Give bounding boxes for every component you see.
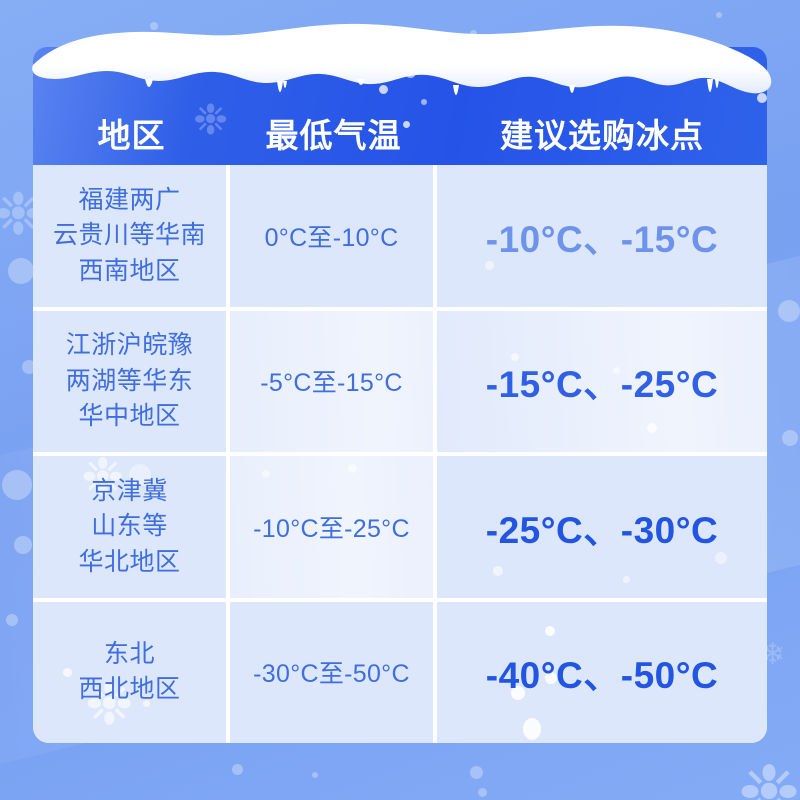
cell-advice: -25°C、-30°C [437, 456, 767, 598]
column-header-advice: 建议选购冰点 [437, 109, 767, 157]
table-row: 福建两广 云贵川等华南 西南地区 0°C至-10°C -10°C、-15°C [33, 165, 767, 307]
region-label: 京津冀 山东等 华北地区 [78, 474, 180, 581]
snow-dot [715, 552, 727, 564]
bokeh-dot [8, 258, 34, 284]
cell-advice: -40°C、-50°C [437, 602, 767, 744]
poster-canvas: ❉ ❉ ❄ ❉ 地区 最低气温 建议选购冰点 [0, 0, 800, 800]
advice-label: -10°C、-15°C [486, 209, 719, 263]
snowflake-icon: ❉ [738, 756, 800, 800]
table-row: ❉ 东北 西北地区 -30°C至-50°C -40°C、-50°C [33, 602, 767, 744]
bokeh-dot [150, 22, 158, 30]
bokeh-dot [782, 430, 798, 446]
snow-dot [348, 464, 357, 473]
bokeh-dot [778, 300, 800, 322]
snow-dot [262, 470, 270, 478]
cell-region: 江浙沪皖豫 两湖等华东 华中地区 [33, 311, 226, 453]
bokeh-dot [716, 12, 722, 18]
column-header-lowtemp: 最低气温 [230, 109, 437, 157]
bokeh-dot [232, 764, 243, 775]
advice-label: -40°C、-50°C [486, 645, 719, 699]
column-header-region: 地区 [33, 109, 230, 157]
snow-dot [379, 85, 388, 94]
bokeh-dot [470, 766, 483, 779]
snow-dot [421, 99, 427, 105]
cell-lowtemp: -30°C至-50°C [230, 602, 433, 744]
advice-label: -25°C、-30°C [486, 500, 719, 554]
bokeh-dot [14, 536, 32, 554]
lowtemp-label: 0°C至-10°C [265, 218, 399, 254]
region-label: 东北 西北地区 [78, 637, 180, 708]
bokeh-dot [2, 470, 32, 500]
table-body: 福建两广 云贵川等华南 西南地区 0°C至-10°C -10°C、-15°C 江… [33, 165, 767, 743]
lowtemp-label: -30°C至-50°C [253, 654, 410, 690]
temperature-guide-table: ❉ 地区 最低气温 建议选购冰点 [33, 35, 767, 735]
cell-lowtemp: -10°C至-25°C [230, 456, 433, 598]
snow-dot [545, 626, 555, 636]
snow-dot [63, 668, 72, 677]
cell-region: ❉ 东北 西北地区 [33, 602, 226, 744]
cell-lowtemp: -5°C至-15°C [230, 311, 433, 453]
lowtemp-label: -10°C至-25°C [253, 509, 410, 545]
snow-dot [757, 93, 767, 103]
snow-dot [405, 67, 416, 78]
table-row: ❉ 京津冀 山东等 华北地区 -10°C至-25°C -25°C、-30°C [33, 456, 767, 598]
table-header-row: 地区 最低气温 建议选购冰点 [33, 109, 767, 157]
advice-label: -15°C、-25°C [486, 354, 719, 408]
cell-advice: -10°C、-15°C [437, 165, 767, 307]
region-label: 江浙沪皖豫 两湖等华东 华中地区 [66, 328, 194, 435]
bokeh-dot [478, 788, 487, 797]
cell-region: 福建两广 云贵川等华南 西南地区 [33, 165, 226, 307]
snow-dot [493, 566, 503, 576]
table-header: ❉ 地区 最低气温 建议选购冰点 [33, 47, 767, 165]
snow-dot [647, 423, 657, 433]
region-label: 福建两广 云贵川等华南 西南地区 [53, 183, 206, 290]
cell-advice: -15°C、-25°C [437, 311, 767, 453]
snow-dot [623, 576, 630, 583]
bokeh-dot [312, 772, 318, 778]
table-row: 江浙沪皖豫 两湖等华东 华中地区 -5°C至-15°C -15°C、-25°C [33, 311, 767, 453]
cell-lowtemp: 0°C至-10°C [230, 165, 433, 307]
snow-dot [523, 718, 541, 740]
bokeh-dot [6, 614, 18, 626]
cell-region: ❉ 京津冀 山东等 华北地区 [33, 456, 226, 598]
lowtemp-label: -5°C至-15°C [260, 363, 402, 399]
